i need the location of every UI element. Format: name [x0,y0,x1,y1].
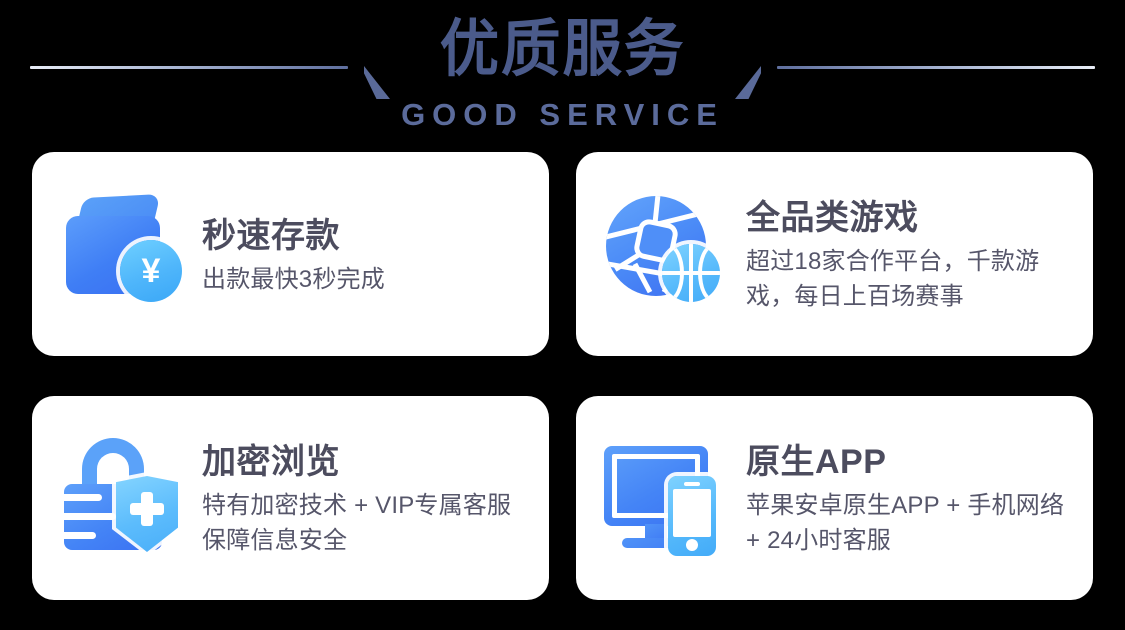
card-title: 全品类游戏 [746,196,1075,240]
lock-stripe [64,494,102,501]
feature-card-native-app[interactable]: 原生APP 苹果安卓原生APP + 手机网络 + 24小时客服 [576,396,1093,600]
card-title: 原生APP [746,440,1075,484]
card-text-block: 全品类游戏 超过18家合作平台，千款游戏，每日上百场赛事 [746,194,1075,314]
phone-home-button [686,539,698,551]
basketball-curve [662,244,684,302]
card-text-block: 原生APP 苹果安卓原生APP + 手机网络 + 24小时客服 [746,438,1075,558]
feature-card-grid: ¥ 秒速存款 出款最快3秒完成 [32,152,1093,600]
monitor-phone-icon [602,432,734,564]
wallet-yen-icon: ¥ [58,188,190,320]
card-description: 超过18家合作平台，千款游戏，每日上百场赛事 [746,244,1075,314]
lock-shield-icon [58,432,190,564]
card-text-block: 秒速存款 出款最快3秒完成 [202,212,531,297]
feature-card-encryption[interactable]: 加密浏览 特有加密技术 + VIP专属客服保障信息安全 [32,396,549,600]
phone-speaker [684,482,700,486]
mobile-phone [668,476,716,556]
page-header: 优质服务 GOOD SERVICE [0,0,1125,146]
shield-cross [130,503,164,515]
page-title: 优质服务 [23,8,1103,90]
lock-stripe [64,532,96,539]
card-title: 加密浏览 [202,440,531,484]
feature-card-deposit[interactable]: ¥ 秒速存款 出款最快3秒完成 [32,152,549,356]
card-title: 秒速存款 [202,214,531,258]
card-description: 特有加密技术 + VIP专属客服保障信息安全 [202,488,531,558]
feature-card-games[interactable]: 全品类游戏 超过18家合作平台，千款游戏，每日上百场赛事 [576,152,1093,356]
page-subtitle: GOOD SERVICE [0,96,1125,134]
lock-stripe [64,513,116,520]
phone-screen [673,489,711,537]
card-description: 出款最快3秒完成 [202,262,531,297]
basketball-curve [698,244,720,302]
card-text-block: 加密浏览 特有加密技术 + VIP专属客服保障信息安全 [202,438,531,558]
yen-coin-badge: ¥ [120,240,182,302]
soccer-basketball-icon [602,188,734,320]
card-description: 苹果安卓原生APP + 手机网络 + 24小时客服 [746,488,1075,558]
basketball [662,244,720,302]
